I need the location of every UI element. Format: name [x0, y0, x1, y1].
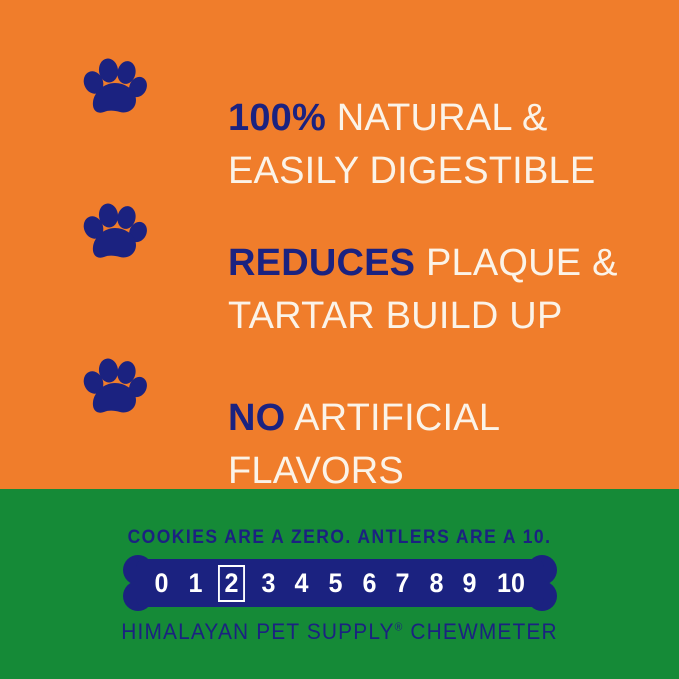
paw-print-icon: [81, 356, 147, 418]
scale-value-9[interactable]: 9: [459, 565, 480, 602]
feature-text: 100% NATURAL & EASILY DIGESTIBLE: [228, 40, 679, 197]
feature-text: NO ARTIFICIAL FLAVORS: [228, 340, 679, 497]
paw-print-icon: [81, 201, 147, 263]
product-feature-poster: 100% NATURAL & EASILY DIGESTIBLE REDUCES…: [0, 0, 679, 679]
feature-highlight: REDUCES: [228, 242, 415, 284]
scale-value-7[interactable]: 7: [392, 565, 413, 602]
chewmeter-panel: COOKIES ARE A ZERO. ANTLERS ARE A 10. 0 …: [0, 489, 679, 679]
chewmeter-scale[interactable]: 0 1 2 3 4 5 6 7 8 9 10: [122, 555, 558, 611]
paw-icon-cell: [0, 185, 228, 263]
scale-value-2-selected[interactable]: 2: [218, 565, 245, 602]
feature-row: 100% NATURAL & EASILY DIGESTIBLE: [0, 40, 679, 197]
scale-value-0[interactable]: 0: [151, 565, 172, 602]
paw-print-icon: [81, 56, 147, 118]
chewmeter-brand-label: HIMALAYAN PET SUPPLY® CHEWMETER: [17, 619, 662, 645]
scale-value-6[interactable]: 6: [358, 565, 379, 602]
scale-value-1[interactable]: 1: [184, 565, 205, 602]
brand-suffix: CHEWMETER: [403, 619, 557, 644]
scale-value-4[interactable]: 4: [291, 565, 312, 602]
chewmeter-tagline: COOKIES ARE A ZERO. ANTLERS ARE A 10.: [27, 527, 652, 549]
feature-text: REDUCES PLAQUE & TARTAR BUILD UP: [228, 185, 679, 342]
feature-row: REDUCES PLAQUE & TARTAR BUILD UP: [0, 185, 679, 342]
brand-name: HIMALAYAN PET SUPPLY: [121, 619, 394, 644]
scale-value-10[interactable]: 10: [493, 565, 528, 602]
feature-highlight: NO: [228, 397, 285, 439]
paw-icon-cell: [0, 40, 228, 118]
scale-value-5[interactable]: 5: [325, 565, 346, 602]
registered-mark-icon: ®: [395, 622, 404, 634]
scale-value-8[interactable]: 8: [426, 565, 447, 602]
feature-row: NO ARTIFICIAL FLAVORS: [0, 340, 679, 497]
feature-highlight: 100%: [228, 97, 326, 139]
paw-icon-cell: [0, 340, 228, 418]
scale-value-3[interactable]: 3: [258, 565, 279, 602]
features-panel: 100% NATURAL & EASILY DIGESTIBLE REDUCES…: [0, 0, 679, 489]
chewmeter-scale-numbers: 0 1 2 3 4 5 6 7 8 9 10: [150, 555, 530, 611]
